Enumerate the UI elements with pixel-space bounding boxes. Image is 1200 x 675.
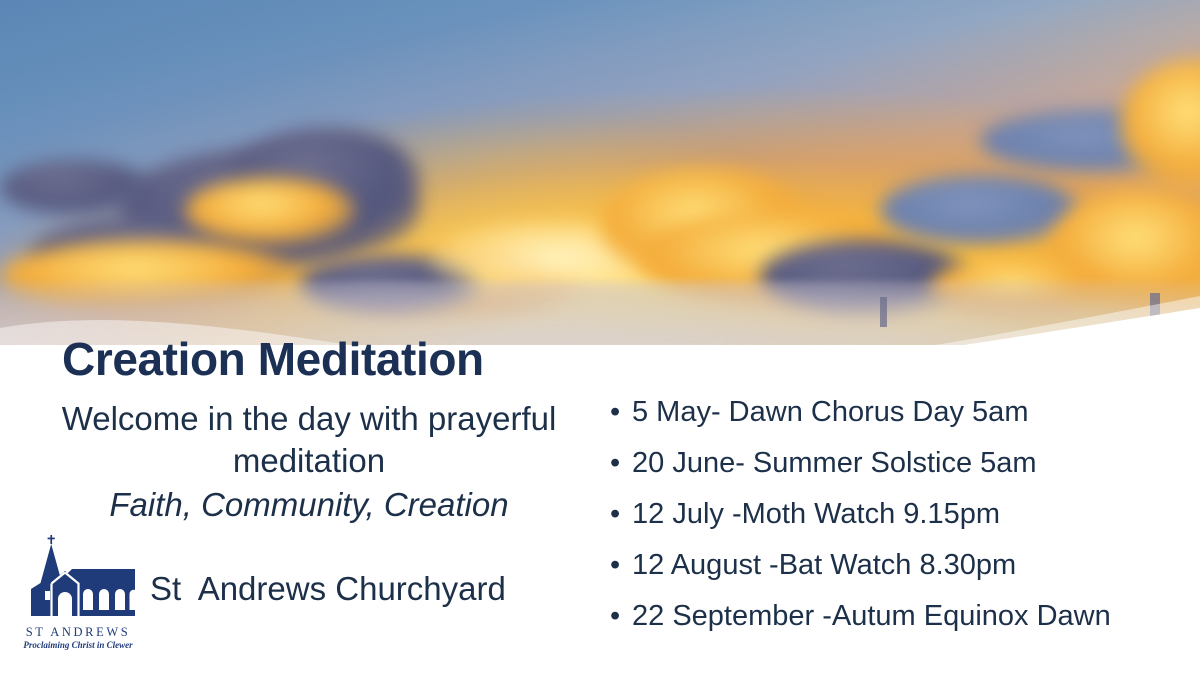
cloud-gold-left: [185, 178, 355, 244]
left-column: Welcome in the day with prayerful medita…: [18, 398, 600, 526]
logo-name: ST ANDREWS: [14, 626, 142, 639]
bullet-icon: •: [610, 449, 620, 478]
bullet-icon: •: [610, 500, 620, 529]
event-label: 12 July -Moth Watch 9.15pm: [632, 498, 1000, 530]
page-title: Creation Meditation: [62, 336, 484, 382]
poster-canvas: Creation Meditation Welcome in the day w…: [0, 0, 1200, 675]
event-label: 20 June- Summer Solstice 5am: [632, 447, 1037, 479]
logo-tagline: Proclaiming Christ in Clewer: [14, 641, 142, 650]
church-logo: ST ANDREWS Proclaiming Christ in Clewer: [14, 533, 142, 651]
event-label: 12 August -Bat Watch 8.30pm: [632, 549, 1016, 581]
cloud-wisp-left: [0, 160, 150, 215]
list-item: • 12 July -Moth Watch 9.15pm: [608, 500, 1196, 529]
tree-silhouette-left: [880, 297, 887, 327]
list-item: • 20 June- Summer Solstice 5am: [608, 449, 1196, 478]
lead-line-1: Welcome in the day with prayerful: [62, 400, 557, 437]
list-item: • 5 May- Dawn Chorus Day 5am: [608, 398, 1196, 427]
cloud-blue-right: [880, 175, 1080, 245]
lead-text: Welcome in the day with prayerful medita…: [18, 398, 600, 482]
lead-line-2: meditation: [233, 442, 385, 479]
sunrise-sky-photo: [0, 0, 1200, 345]
event-label: 22 September -Autum Equinox Dawn: [632, 600, 1111, 632]
bullet-icon: •: [610, 602, 620, 631]
values-tagline: Faith, Community, Creation: [18, 484, 600, 526]
event-list: • 5 May- Dawn Chorus Day 5am • 20 June- …: [608, 398, 1196, 653]
bullet-icon: •: [610, 398, 620, 427]
venue-text: St Andrews Churchyard: [150, 570, 506, 608]
church-icon: [14, 533, 142, 625]
list-item: • 22 September -Autum Equinox Dawn: [608, 602, 1196, 631]
tree-silhouette-right: [1150, 293, 1160, 331]
event-label: 5 May- Dawn Chorus Day 5am: [632, 396, 1028, 428]
bullet-icon: •: [610, 551, 620, 580]
list-item: • 12 August -Bat Watch 8.30pm: [608, 551, 1196, 580]
